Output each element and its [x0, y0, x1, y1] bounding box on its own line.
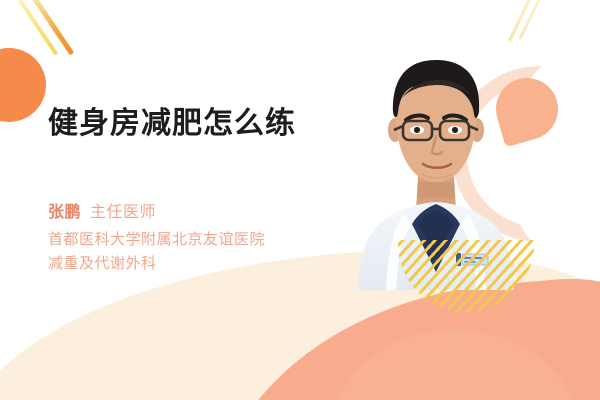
page-title: 健身房减肥怎么练: [48, 98, 296, 142]
doctor-name-row: 张鹏主任医师: [48, 198, 156, 222]
orange-circle-shape: [0, 48, 46, 122]
doctor-title: 主任医师: [90, 204, 156, 221]
doctor-hospital: 首都医科大学附属北京友谊医院: [48, 228, 265, 249]
doctor-name: 张鹏: [48, 204, 81, 221]
doctor-department: 减重及代谢外科: [48, 252, 157, 273]
diagonal-stripe-top-right-2: [518, 0, 546, 40]
video-cover-card: 健身房减肥怎么练 张鹏主任医师 首都医科大学附属北京友谊医院 减重及代谢外科: [0, 0, 600, 400]
